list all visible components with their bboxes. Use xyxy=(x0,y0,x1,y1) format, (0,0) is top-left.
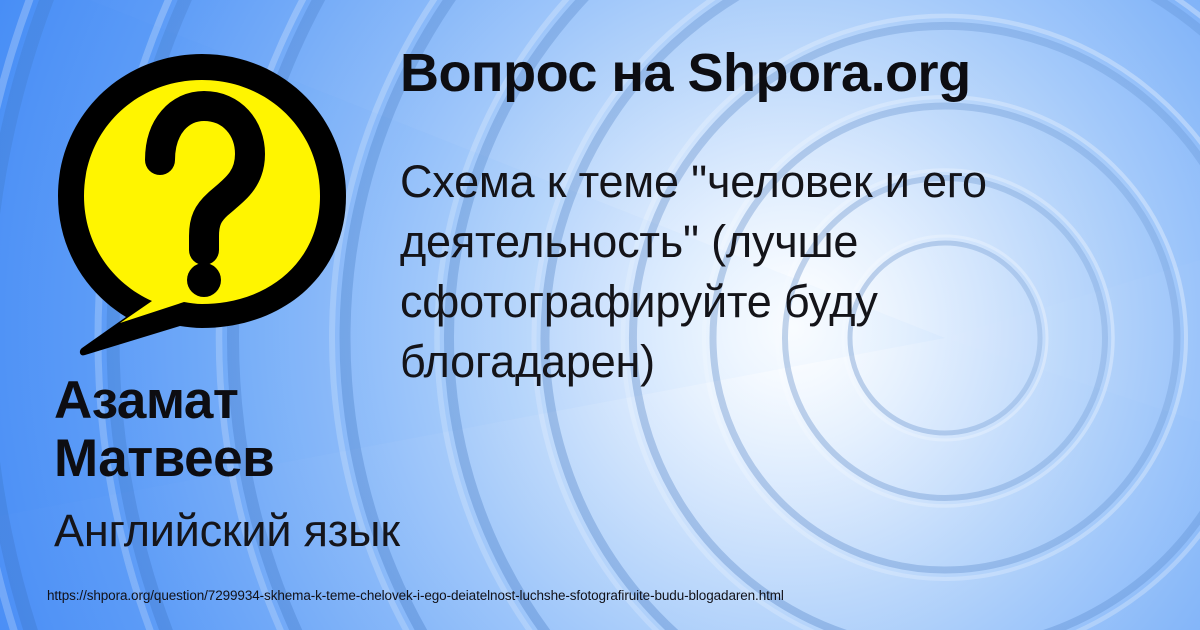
question-text: Схема к теме "человек и его деятельность… xyxy=(400,152,1120,391)
subject-label: Английский язык xyxy=(54,504,524,558)
source-url[interactable]: https://shpora.org/question/7299934-skhe… xyxy=(47,588,784,603)
question-speech-bubble-icon xyxy=(52,48,352,358)
question-mark-dot xyxy=(187,263,221,297)
page-title: Вопрос на Shpora.org xyxy=(400,44,1170,102)
author-name: Азамат Матвеев xyxy=(54,372,394,488)
question-share-card: Вопрос на Shpora.org Схема к теме "челов… xyxy=(0,0,1200,630)
